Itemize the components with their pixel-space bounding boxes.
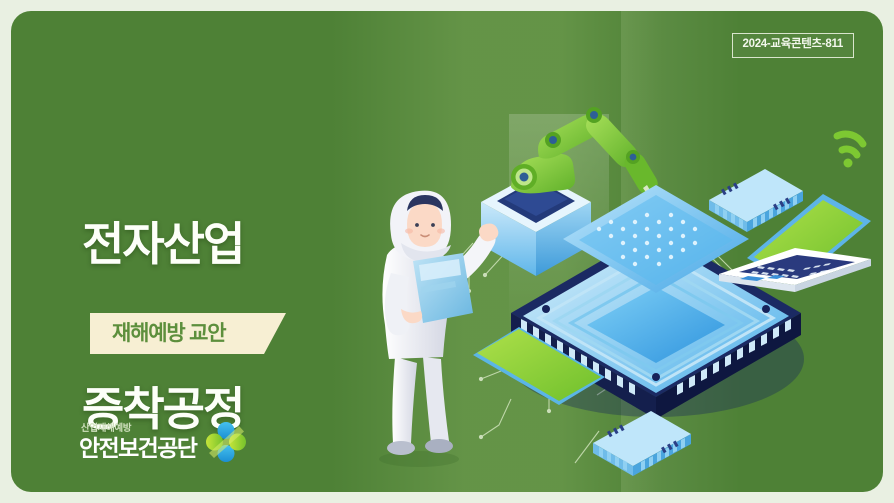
subtitle-ribbon: 재해예방 교안 [90, 313, 286, 354]
content-code-badge: 2024-교육콘텐츠-811 [732, 33, 855, 58]
worker-figure [379, 191, 498, 467]
clipboard-icon [413, 253, 473, 323]
ic-chip-top-icon [709, 169, 803, 232]
subtitle-ribbon-label: 재해예방 교안 [112, 323, 225, 344]
clover-logo-icon [205, 421, 247, 463]
cover-slide: 2024-교육콘텐츠-811 전자산업 증착공정 설비 정비작업 재해예방 교안… [0, 0, 894, 503]
logo-text-block: 산업재해예방 안전보건공단 [79, 424, 196, 461]
wifi-icon [837, 134, 863, 167]
kosha-logo: 산업재해예방 안전보건공단 [79, 421, 247, 463]
semiconductor-deposition-process-illustration [361, 59, 883, 492]
title-line-1: 전자산업 [82, 217, 335, 272]
logo-name: 안전보건공단 [79, 437, 196, 460]
green-panel: 2024-교육콘텐츠-811 전자산업 증착공정 설비 정비작업 재해예방 교안… [11, 11, 883, 492]
ic-chip-bottom-icon [593, 411, 691, 476]
logo-tagline: 산업재해예방 [79, 424, 196, 434]
